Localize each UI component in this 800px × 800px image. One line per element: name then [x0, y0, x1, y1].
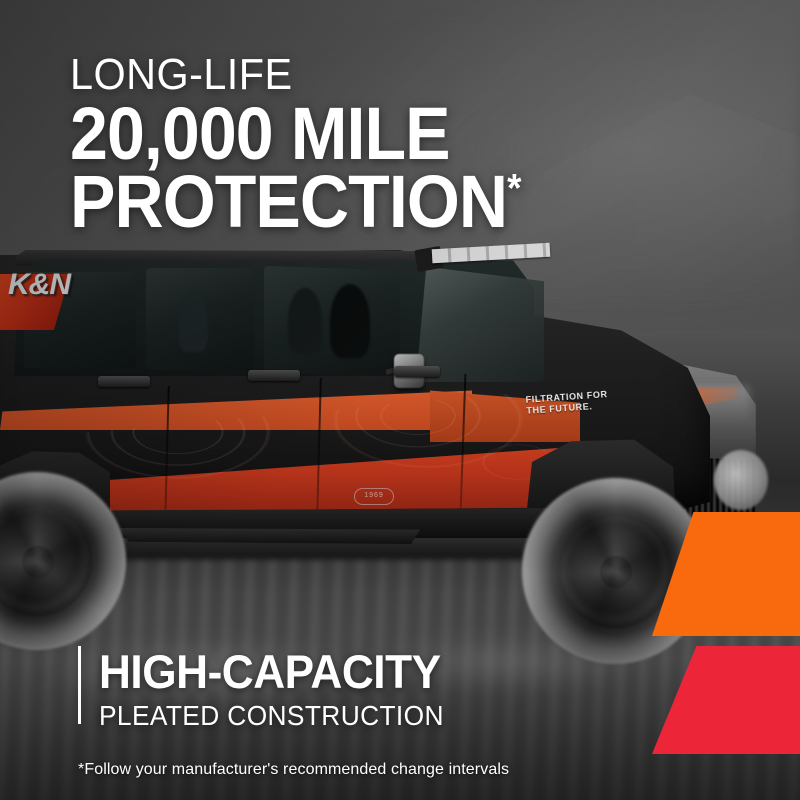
headline-line-2-text: PROTECTION	[70, 160, 507, 243]
advertisement-canvas: 1969 K&N FILTRATION FOR THE FUTURE. LONG…	[0, 0, 800, 800]
headline-line-2: PROTECTION*	[70, 168, 640, 236]
headline-block: LONG-LIFE 20,000 MILE PROTECTION*	[70, 52, 690, 236]
subhead-text-group: HIGH-CAPACITY PLEATED CONSTRUCTION	[99, 646, 466, 732]
headline-line-1: 20,000 MILE	[70, 100, 640, 168]
subhead-block: HIGH-CAPACITY PLEATED CONSTRUCTION	[78, 646, 466, 732]
subhead-vertical-rule	[78, 646, 81, 724]
footnote-disclaimer: *Follow your manufacturer's recommended …	[78, 760, 509, 780]
headline-asterisk: *	[507, 166, 520, 210]
subhead-line-2: PLEATED CONSTRUCTION	[99, 700, 444, 732]
subhead-line-1: HIGH-CAPACITY	[99, 648, 444, 696]
